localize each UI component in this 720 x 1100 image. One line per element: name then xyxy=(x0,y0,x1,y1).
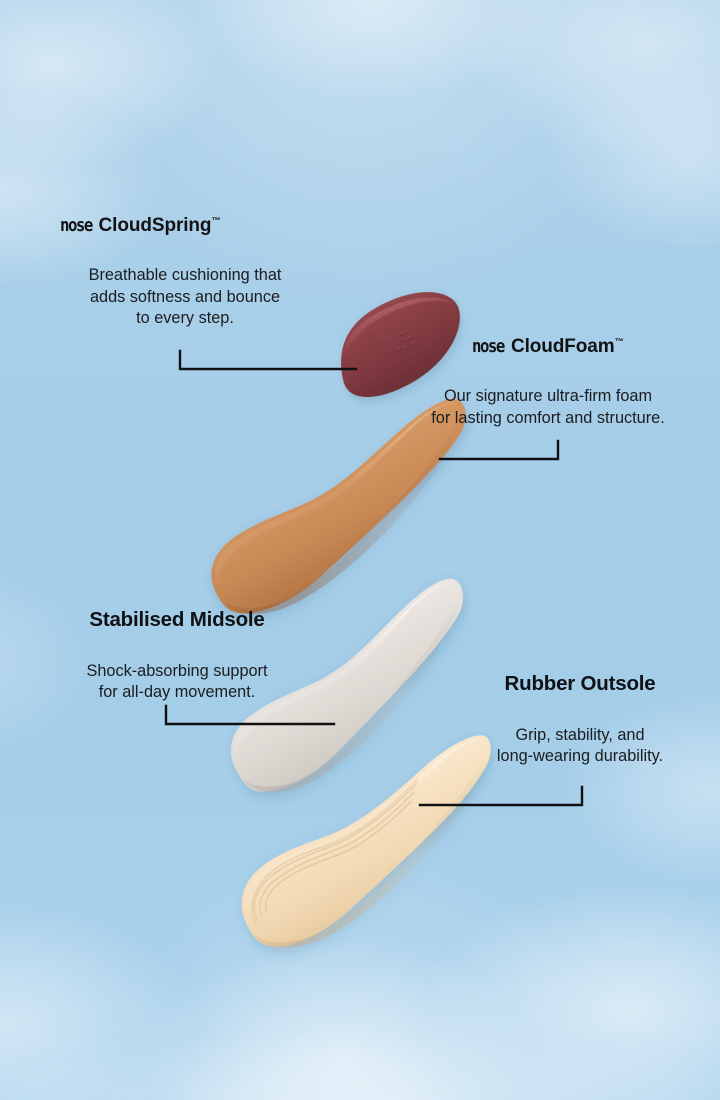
description-line: Grip, stability, and xyxy=(456,725,704,747)
callout-rubber-outsole-description: Grip, stability, and long-wearing durabi… xyxy=(456,725,704,768)
description-line: Our signature ultra-firm foam xyxy=(398,386,698,408)
leader-line-cloudspring xyxy=(178,348,358,376)
callout-cloudspring: noseCloudSpring™ Breathable cushioning t… xyxy=(60,216,310,330)
trademark-symbol-cloudfoam: ™ xyxy=(615,337,624,347)
nose-wordmark-cloudfoam: nose xyxy=(472,338,504,356)
callout-cloudspring-title: noseCloudSpring™ xyxy=(60,216,310,235)
callout-stabilised-midsole-description: Shock-absorbing support for all-day move… xyxy=(46,661,308,704)
callout-stabilised-midsole-heading: Stabilised Midsole xyxy=(46,610,308,631)
leader-line-cloudfoam xyxy=(438,438,560,466)
callout-cloudspring-description: Breathable cushioning that adds softness… xyxy=(60,265,310,330)
callout-rubber-outsole: Rubber Outsole Grip, stability, and long… xyxy=(456,674,704,768)
callout-cloudfoam-title: noseCloudFoam™ xyxy=(398,337,698,356)
callout-stabilised-midsole: Stabilised Midsole Shock-absorbing suppo… xyxy=(46,610,308,704)
trademark-symbol-cloudspring: ™ xyxy=(211,216,220,226)
description-line: adds softness and bounce xyxy=(60,287,310,309)
callout-cloudfoam-description: Our signature ultra-firm foam for lastin… xyxy=(398,386,698,429)
description-line: Breathable cushioning that xyxy=(60,265,310,287)
description-line: to every step. xyxy=(60,308,310,330)
description-line: for all-day movement. xyxy=(46,682,308,704)
leader-line-stabilised-midsole xyxy=(164,703,336,731)
description-line: for lasting comfort and structure. xyxy=(398,408,698,430)
product-name-cloudfoam: CloudFoam xyxy=(511,336,615,357)
callout-rubber-outsole-heading: Rubber Outsole xyxy=(456,674,704,695)
description-line: Shock-absorbing support xyxy=(46,661,308,683)
callout-cloudfoam: noseCloudFoam™ Our signature ultra-firm … xyxy=(398,337,698,429)
nose-wordmark-cloudspring: nose xyxy=(60,217,92,235)
leader-line-rubber-outsole xyxy=(418,784,584,812)
product-name-cloudspring: CloudSpring xyxy=(99,215,212,236)
description-line: long-wearing durability. xyxy=(456,746,704,768)
infographic-canvas: nose nose xyxy=(0,0,720,1100)
